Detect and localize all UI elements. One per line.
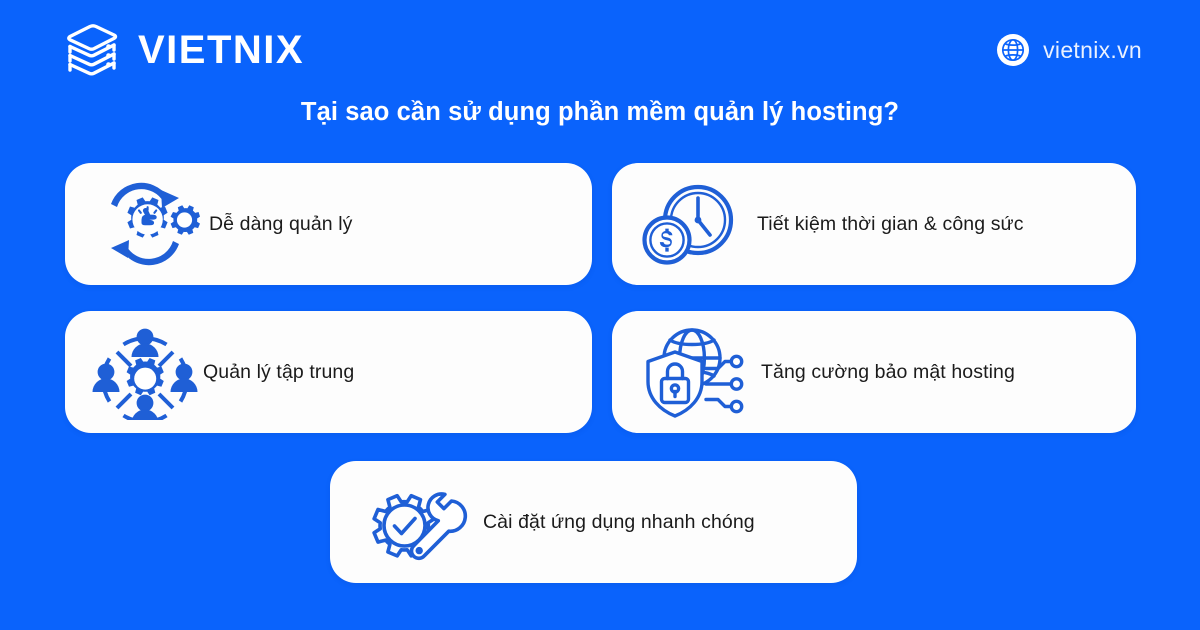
feature-card-save-time[interactable]: Tiết kiệm thời gian & công sức: [612, 163, 1136, 285]
feature-card-easy-management[interactable]: Dễ dàng quản lý: [65, 163, 592, 285]
site-url-badge[interactable]: vietnix.vn: [996, 33, 1142, 67]
feature-card-security[interactable]: Tăng cường bảo mật hosting: [612, 311, 1136, 433]
feature-card-label: Dễ dàng quản lý: [209, 212, 353, 236]
people-network-gear-icon: [89, 324, 201, 420]
site-url-text: vietnix.vn: [1043, 39, 1142, 62]
brand-logo[interactable]: VIETNIX: [62, 19, 304, 81]
feature-card-label: Quản lý tập trung: [203, 360, 354, 384]
clock-coin-icon: [634, 178, 750, 270]
feature-card-label: Tiết kiệm thời gian & công sức: [757, 212, 1024, 236]
feature-card-label: Cài đặt ứng dụng nhanh chóng: [483, 510, 755, 534]
shield-lock-globe-circuit-icon: [634, 324, 752, 420]
gear-check-wrench-icon: [354, 474, 472, 570]
feature-card-centralized-management[interactable]: Quản lý tập trung: [65, 311, 592, 433]
page-header: VIETNIX vietnix.vn: [0, 0, 1200, 100]
page-title: Tại sao cần sử dụng phần mềm quản lý hos…: [0, 98, 1200, 127]
feature-card-label: Tăng cường bảo mật hosting: [761, 360, 1015, 384]
feature-card-fast-install[interactable]: Cài đặt ứng dụng nhanh chóng: [330, 461, 857, 583]
stacked-layers-logo-icon: [62, 19, 124, 81]
refresh-gears-timer-icon: [89, 178, 201, 270]
brand-name: VIETNIX: [138, 30, 304, 70]
globe-icon: [996, 33, 1030, 67]
